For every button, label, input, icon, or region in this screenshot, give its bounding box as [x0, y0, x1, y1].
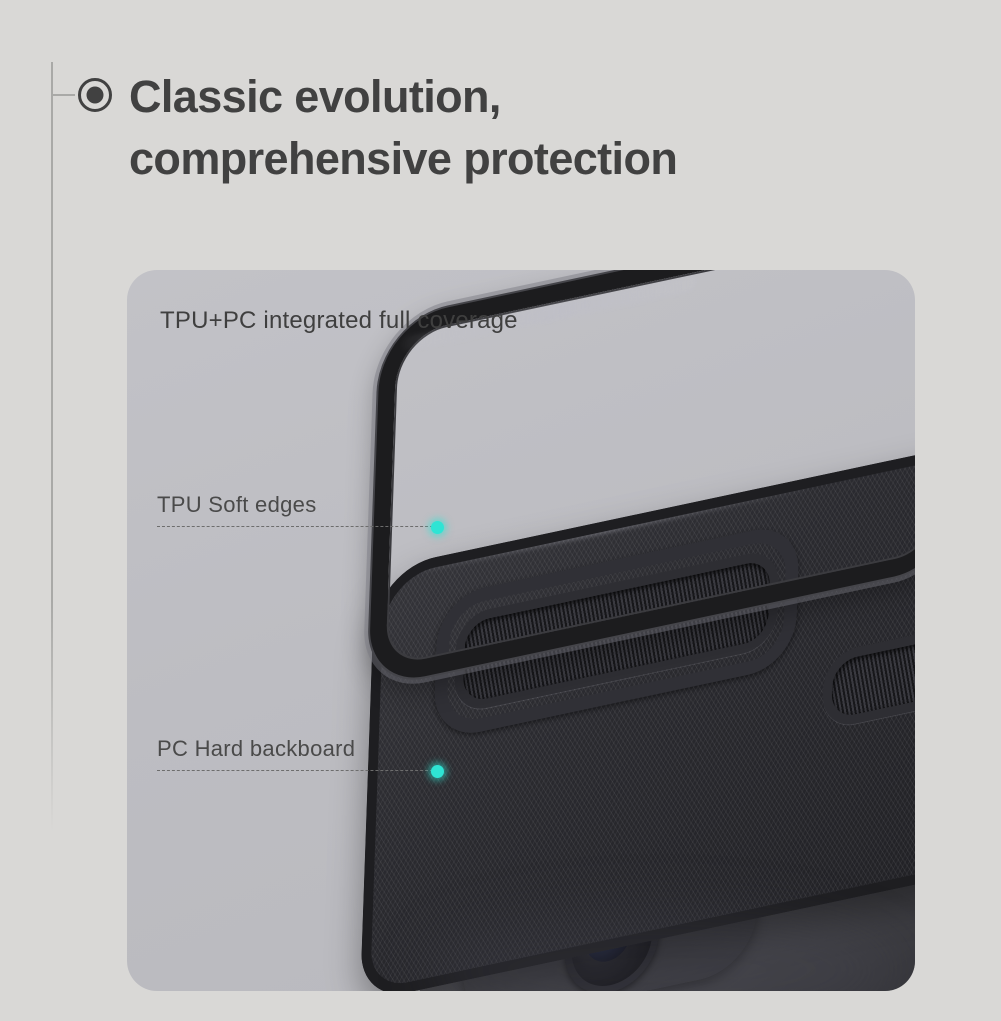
callout-leader-line: [157, 770, 438, 772]
callout-leader-line: [157, 526, 438, 528]
headline-block: Classic evolution, comprehensive protect…: [78, 66, 958, 190]
backboard-grille-slot-side: [822, 621, 915, 730]
callout-dot-icon: [431, 765, 444, 778]
headline-line-2: comprehensive protection: [129, 128, 677, 190]
callout-tpu-soft-edges: TPU Soft edges: [157, 492, 438, 528]
callout-label: TPU Soft edges: [157, 492, 438, 518]
callout-label: PC Hard backboard: [157, 736, 438, 762]
left-rail-vertical-line: [51, 62, 53, 832]
callout-pc-hard-backboard: PC Hard backboard: [157, 736, 438, 772]
product-feature-card: TPU+PC integrated full coverage: [127, 270, 915, 991]
product-artwork: [127, 270, 915, 991]
headline-line-1: Classic evolution,: [129, 66, 677, 128]
card-title: TPU+PC integrated full coverage: [160, 307, 518, 335]
callout-dot-icon: [431, 521, 444, 534]
left-rail-tick-mark: [51, 94, 75, 96]
page-title: Classic evolution, comprehensive protect…: [129, 66, 677, 190]
target-dot-icon: [78, 78, 112, 112]
